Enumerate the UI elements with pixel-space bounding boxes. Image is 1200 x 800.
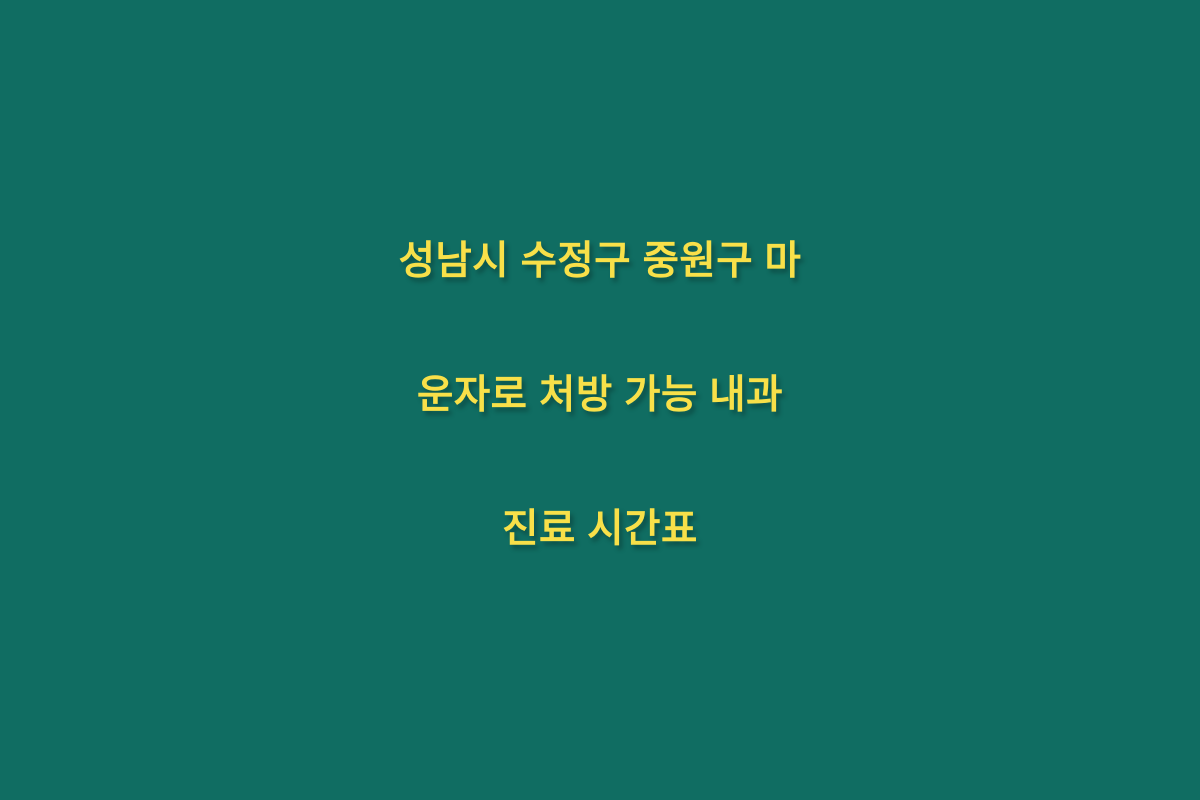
- title-line-2: 운자로 처방 가능 내과: [50, 328, 1150, 462]
- title-line-3: 진료 시간표: [50, 462, 1150, 596]
- page-title: 성남시 수정구 중원구 마 운자로 처방 가능 내과 진료 시간표: [50, 194, 1150, 596]
- title-banner: 성남시 수정구 중원구 마 운자로 처방 가능 내과 진료 시간표: [0, 0, 1200, 800]
- title-line-1: 성남시 수정구 중원구 마: [50, 194, 1150, 328]
